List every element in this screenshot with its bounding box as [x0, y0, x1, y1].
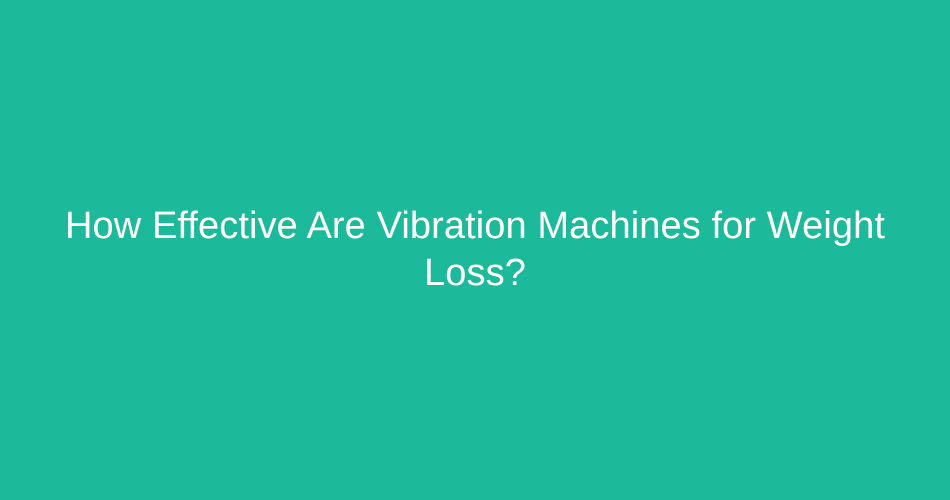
title-block: How Effective Are Vibration Machines for…: [57, 203, 893, 297]
title-card: How Effective Are Vibration Machines for…: [0, 0, 950, 500]
page-title: How Effective Are Vibration Machines for…: [65, 203, 885, 297]
